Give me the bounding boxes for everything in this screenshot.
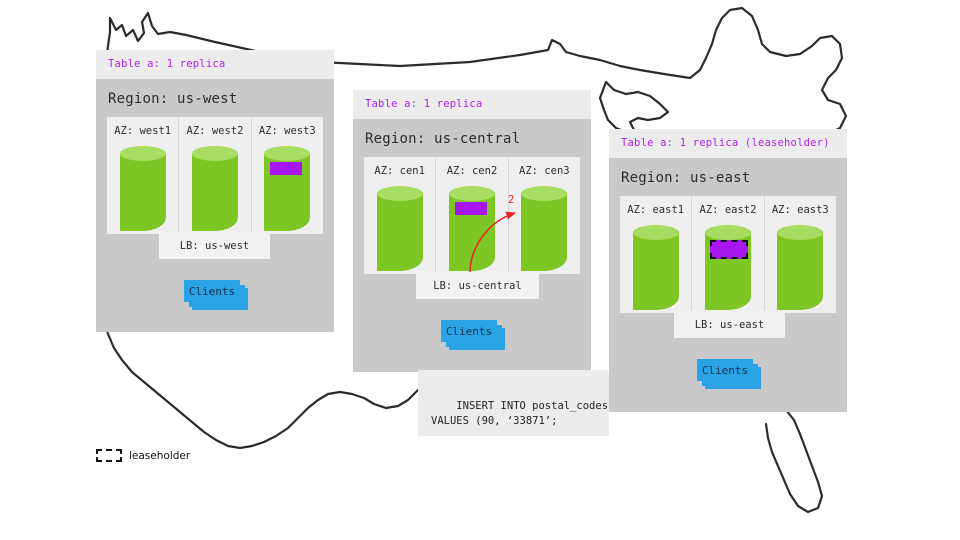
cylinder-bottom — [192, 210, 238, 224]
az-label-east1: AZ: east1 — [627, 204, 684, 216]
clients-us-east[interactable]: Clients — [697, 359, 759, 389]
az-cell-cen3[interactable]: AZ: cen3 — [509, 157, 580, 274]
az-cell-east3[interactable]: AZ: east3 — [765, 196, 836, 313]
node-cylinder-east2[interactable] — [705, 225, 751, 303]
cylinder-top — [449, 186, 495, 201]
great-lakes-path — [600, 82, 668, 132]
cylinder-bottom — [705, 289, 751, 303]
cylinder-top — [705, 225, 751, 240]
sql-statement-box: INSERT INTO postal_codes VALUES (90, ‘33… — [418, 370, 609, 436]
az-strip-us-west: AZ: west1 AZ: west2 AZ: west3 — [107, 117, 323, 234]
cylinder-top — [120, 146, 166, 161]
cylinder-bottom — [377, 250, 423, 264]
cylinder-bottom — [777, 289, 823, 303]
florida-path — [766, 410, 822, 512]
az-cell-east1[interactable]: AZ: east1 — [620, 196, 692, 313]
arrow-step-label: 2 — [508, 194, 514, 206]
az-strip-us-central: AZ: cen1 AZ: cen2 AZ: cen3 — [364, 157, 580, 274]
lb-label: LB: us-west — [180, 240, 250, 252]
region-title-us-east: Region: us-east — [609, 158, 847, 196]
load-balancer-us-central[interactable]: LB: us-central — [416, 272, 539, 299]
node-cylinder-west3[interactable] — [264, 146, 310, 224]
clients-face[interactable]: Clients — [441, 320, 497, 342]
cylinder-top — [377, 186, 423, 201]
az-strip-us-east: AZ: east1 AZ: east2 AZ: east3 — [620, 196, 836, 313]
cylinder-top — [633, 225, 679, 240]
node-cylinder-cen3[interactable] — [521, 186, 567, 264]
lb-label: LB: us-central — [433, 280, 522, 292]
panel-header-us-east: Table a: 1 replica (leaseholder) — [609, 129, 847, 158]
node-cylinder-west2[interactable] — [192, 146, 238, 224]
cylinder-bottom — [264, 210, 310, 224]
lb-label: LB: us-east — [695, 319, 765, 331]
cylinder-top — [777, 225, 823, 240]
az-cell-cen1[interactable]: AZ: cen1 — [364, 157, 436, 274]
load-balancer-us-east[interactable]: LB: us-east — [674, 311, 785, 338]
cylinder-bottom — [449, 250, 495, 264]
node-cylinder-cen2[interactable] — [449, 186, 495, 264]
range-replica-west3 — [270, 162, 302, 175]
az-label-west1: AZ: west1 — [114, 125, 171, 137]
cylinder-top — [521, 186, 567, 201]
region-panel-us-west[interactable]: Table a: 1 replica Region: us-west AZ: w… — [96, 50, 334, 332]
region-panel-us-central[interactable]: Table a: 1 replica Region: us-central AZ… — [353, 90, 591, 372]
clients-us-west[interactable]: Clients — [184, 280, 246, 310]
az-label-cen3: AZ: cen3 — [519, 165, 570, 177]
clients-face[interactable]: Clients — [184, 280, 240, 302]
az-cell-west2[interactable]: AZ: west2 — [179, 117, 251, 234]
cylinder-bottom — [120, 210, 166, 224]
node-cylinder-cen1[interactable] — [377, 186, 423, 264]
region-panel-us-east[interactable]: Table a: 1 replica (leaseholder) Region:… — [609, 129, 847, 412]
legend-leaseholder: leaseholder — [96, 449, 190, 462]
cylinder-bottom — [633, 289, 679, 303]
range-replica-east2-leaseholder — [710, 240, 748, 259]
az-label-west3: AZ: west3 — [259, 125, 316, 137]
az-cell-cen2[interactable]: AZ: cen2 — [436, 157, 508, 274]
az-cell-west3[interactable]: AZ: west3 — [252, 117, 323, 234]
panel-header-us-central: Table a: 1 replica — [353, 90, 591, 119]
range-replica-cen2 — [455, 202, 487, 215]
legend-label: leaseholder — [129, 450, 190, 462]
node-cylinder-east3[interactable] — [777, 225, 823, 303]
cylinder-top — [264, 146, 310, 161]
clients-label: Clients — [446, 325, 492, 338]
cylinder-bottom — [521, 250, 567, 264]
az-label-east3: AZ: east3 — [772, 204, 829, 216]
az-label-cen1: AZ: cen1 — [374, 165, 425, 177]
node-cylinder-east1[interactable] — [633, 225, 679, 303]
region-title-us-central: Region: us-central — [353, 119, 591, 157]
node-cylinder-west1[interactable] — [120, 146, 166, 224]
region-title-us-west: Region: us-west — [96, 79, 334, 117]
az-cell-west1[interactable]: AZ: west1 — [107, 117, 179, 234]
panel-header-us-west: Table a: 1 replica — [96, 50, 334, 79]
clients-us-central[interactable]: Clients — [441, 320, 503, 350]
diagram-canvas: Table a: 1 replica Region: us-west AZ: w… — [0, 0, 960, 540]
az-label-west2: AZ: west2 — [187, 125, 244, 137]
sql-text: INSERT INTO postal_codes VALUES (90, ‘33… — [431, 400, 608, 427]
az-label-east2: AZ: east2 — [700, 204, 757, 216]
clients-label: Clients — [189, 285, 235, 298]
clients-label: Clients — [702, 364, 748, 377]
dashed-rect-icon — [96, 449, 122, 462]
az-cell-east2[interactable]: AZ: east2 — [692, 196, 764, 313]
az-label-cen2: AZ: cen2 — [447, 165, 498, 177]
cylinder-top — [192, 146, 238, 161]
load-balancer-us-west[interactable]: LB: us-west — [159, 232, 270, 259]
clients-face[interactable]: Clients — [697, 359, 753, 381]
